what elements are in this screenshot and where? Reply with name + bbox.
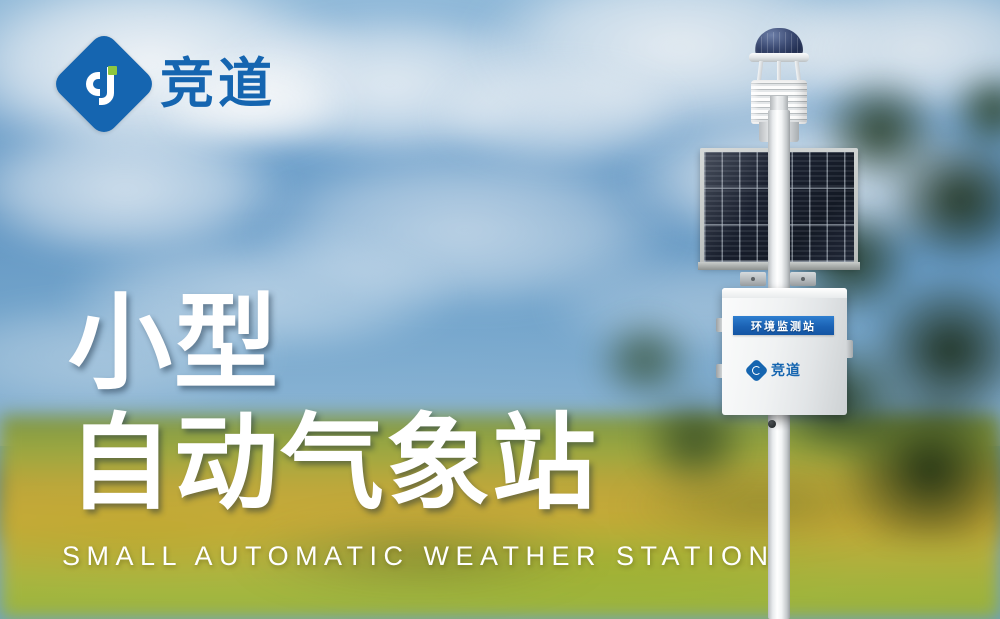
cloud-decoration [0, 120, 290, 260]
control-box-side-latch [716, 318, 722, 332]
weather-station-product-image: 环境监测站 竞道 [600, 0, 960, 619]
bracket-bolt [801, 277, 805, 281]
brand-name-text: 竞道 [160, 57, 276, 111]
control-box-brand-text: 竞道 [771, 360, 801, 380]
control-box-label-text: 环境监测站 [751, 318, 816, 334]
headline-block: 小型 自动气象站 [68, 288, 688, 518]
brand-logo: 竞道 [66, 46, 276, 122]
product-banner: 竞道 小型 自动气象站 SMALL AUTOMATIC WEATHER STAT… [0, 0, 1000, 619]
environmental-monitoring-control-box: 环境监测站 竞道 [722, 288, 847, 415]
headline-line-2: 自动气象站 [68, 408, 688, 518]
sensor-dome-ribs [755, 32, 803, 54]
pole-bolt [768, 420, 776, 428]
jingdao-diamond-logo-icon [50, 30, 157, 137]
jingdao-diamond-logo-icon [744, 358, 768, 382]
control-box-top-edge [722, 288, 847, 298]
control-box-side-latch [716, 364, 722, 378]
control-box-vent [846, 340, 853, 358]
solar-panel-mount-bracket [790, 272, 816, 286]
control-box-brand-logo: 竞道 [748, 360, 801, 380]
bracket-bolt [751, 277, 755, 281]
headline-line-1: 小型 [68, 288, 688, 398]
control-box-label-band: 环境监测站 [733, 316, 834, 335]
solar-panel-mount-bracket [740, 272, 766, 286]
